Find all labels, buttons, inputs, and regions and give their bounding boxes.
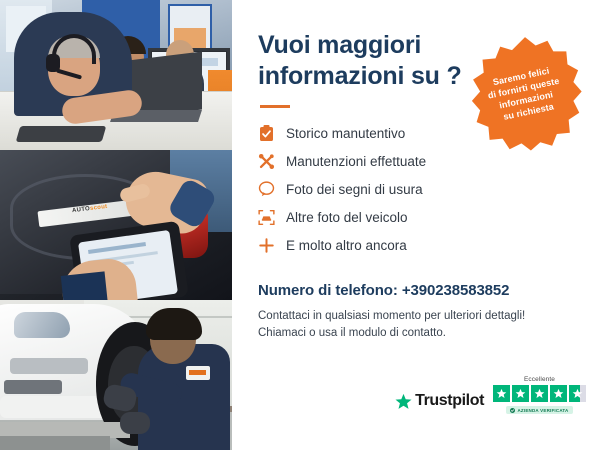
trustpilot-logo: Trustpilot [395, 392, 484, 414]
callout-starburst-badge: Saremo felici di fornirti queste informa… [466, 36, 584, 154]
phone-number[interactable]: +390238583852 [402, 282, 510, 299]
contact-description-line-1: Contattaci in qualsiasi momento per ulte… [258, 310, 525, 322]
content-panel: Vuoi maggiori informazioni su ? Saremo f… [232, 0, 600, 450]
tablet-hand-sleeve-shape [61, 271, 109, 300]
contact-description: Contattaci in qualsiasi momento per ulte… [258, 308, 578, 343]
plus-icon [258, 237, 275, 254]
car-headlight-shape [14, 312, 70, 338]
uniform-logo-patch-shape [186, 366, 210, 380]
page-title-line-1: Vuoi maggiori [258, 31, 421, 59]
title-divider [260, 105, 290, 108]
contact-description-line-2: Chiamaci o usa il modulo di contatto. [258, 327, 446, 339]
trustpilot-rating-label: Eccellente [524, 376, 555, 383]
speech-bubble-icon [258, 181, 275, 198]
list-item: Altre foto del veicolo [258, 204, 578, 230]
mechanic-second-glove-shape [120, 412, 150, 434]
list-item-label: Manutenzioni effettuate [286, 154, 426, 169]
trustpilot-score-block: Eccellente [493, 376, 586, 414]
trustpilot-star-icon [395, 393, 412, 410]
photo-call-center-agents-with-headsets [0, 0, 232, 150]
verified-check-icon [510, 408, 515, 413]
star-filled [531, 385, 548, 402]
list-item-label: Foto dei segni di usura [286, 182, 423, 197]
photo-column: AUTOscout [0, 0, 232, 450]
page-title: Vuoi maggiori informazioni su ? [258, 30, 468, 91]
car-bumper-shape [0, 396, 110, 418]
star-partial [569, 385, 586, 402]
badge-inner: Saremo felici di fornirti queste informa… [466, 36, 584, 154]
verified-company-label: AZIENDA VERIFICATA [517, 408, 568, 413]
mechanic-hair-shape [146, 308, 202, 340]
photo-mechanic-removing-wheel [0, 300, 232, 450]
list-item-label: Storico manutentivo [286, 126, 405, 141]
clipboard-check-icon [258, 125, 275, 142]
headset-icon [466, 36, 490, 56]
list-item: Foto dei segni di usura [258, 176, 578, 202]
star-filled [550, 385, 567, 402]
trustpilot-rating[interactable]: Trustpilot Eccellente [395, 376, 586, 414]
car-lower-grille-shape [4, 380, 62, 394]
badge-text: Saremo felici di fornirti queste informa… [475, 62, 575, 128]
list-item-label: Altre foto del veicolo [286, 210, 408, 225]
phone-label: Numero di telefono: [258, 282, 402, 299]
star-filled [493, 385, 510, 402]
trustpilot-stars [493, 385, 586, 402]
phone-line: Numero di telefono: +390238583852 [258, 282, 578, 299]
star-filled [512, 385, 529, 402]
trustpilot-brand-name: Trustpilot [415, 392, 484, 410]
wrench-screwdriver-icon [258, 153, 275, 170]
verified-company-badge: AZIENDA VERIFICATA [506, 406, 572, 414]
page-title-line-2: informazioni su ? [258, 62, 462, 90]
promo-banner: AUTOscout [0, 0, 600, 450]
car-lift-base-shape [0, 436, 110, 450]
photo-frame-car-icon [258, 209, 275, 226]
keyboard-shape [16, 126, 107, 142]
car-grille-shape [10, 358, 88, 374]
photo-vehicle-inspection-with-tablet: AUTOscout [0, 150, 232, 300]
list-item: E molto altro ancora [258, 232, 578, 258]
list-item-label: E molto altro ancora [286, 238, 407, 253]
